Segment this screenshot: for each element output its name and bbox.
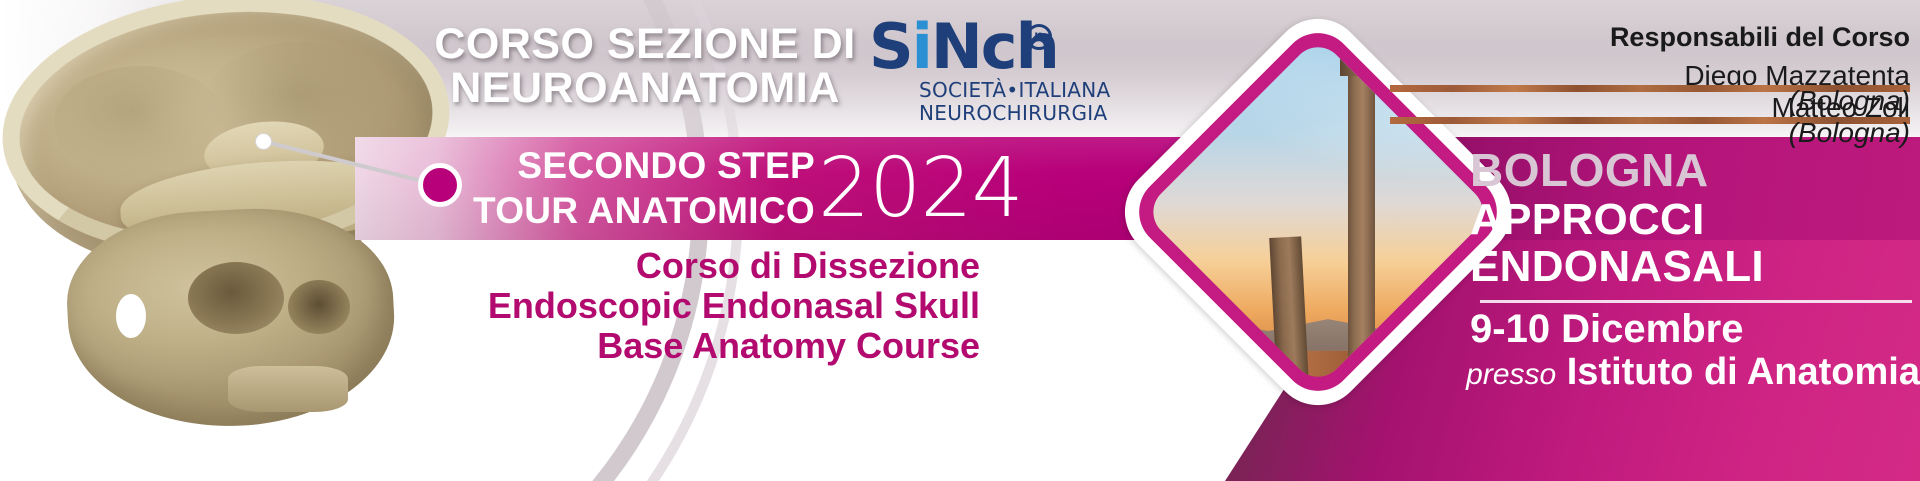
registered-mark-icon: n [1026, 24, 1052, 50]
skull-maxilla [228, 366, 348, 412]
sinch-logo: SiNch n SOCIETÀ•ITALIANA NEUROCHIRURGIA [869, 16, 1069, 126]
title-line-2: NEUROANATOMIA [430, 66, 860, 110]
skull-notch [116, 294, 146, 338]
city-label: BOLOGNA [1470, 146, 1920, 194]
course-line-2: Endoscopic Endonasal Skull [420, 286, 980, 326]
sinch-subtitle-line-2: NEUROCHIRURGIA [919, 101, 1108, 125]
event-venue: presso Istituto di Anatomia [1400, 352, 1920, 395]
step-line-2: TOUR ANATOMICO [470, 188, 815, 233]
event-date: 9-10 Dicembre [1470, 308, 1920, 350]
course-title: Corso di Dissezione Endoscopic Endonasal… [420, 246, 980, 366]
title-line-1: CORSO SEZIONE DI [434, 20, 855, 68]
panel-divider-line [1480, 300, 1912, 303]
responsabile-1: Diego Mazzatenta (Bologna) [1390, 60, 1910, 92]
sinch-wordmark: SiNch [869, 16, 1058, 78]
pointer-dot [256, 134, 271, 149]
conference-banner: CORSO SEZIONE DI NEUROANATOMIA SiNch n S… [0, 0, 1920, 481]
band-circle-marker [418, 163, 462, 207]
venue-name: Istituto di Anatomia [1567, 351, 1920, 393]
venue-prefix: presso [1466, 358, 1556, 391]
skull-orbit-secondary [288, 280, 350, 334]
responsabile-2-city: (Bologna) [1390, 117, 1910, 124]
asinelli-tower [1348, 73, 1375, 381]
skull-orbit [188, 262, 284, 334]
event-year: 2024 [818, 141, 1023, 237]
approach-line-2: ENDONASALI [1470, 243, 1920, 290]
page-title: CORSO SEZIONE DI NEUROANATOMIA [430, 22, 860, 110]
step-line-1: SECONDO STEP [470, 143, 815, 188]
responsabile-1-city: (Bologna) [1390, 85, 1910, 92]
responsabili-heading: Responsabili del Corso [1490, 22, 1910, 53]
responsabile-2: Matteo Zoli (Bologna) [1390, 92, 1910, 124]
approach-line-1: APPROCCI [1470, 196, 1920, 243]
sinch-letter-s: S [869, 10, 912, 83]
sinch-letter-i: i [912, 10, 931, 83]
step-band-text: SECONDO STEP TOUR ANATOMICO [470, 143, 815, 233]
course-line-3: Base Anatomy Course [420, 326, 980, 366]
sinch-subtitle-line-1: SOCIETÀ•ITALIANA [919, 78, 1111, 102]
course-line-1: Corso di Dissezione [420, 246, 980, 286]
approach-label: APPROCCI ENDONASALI [1470, 196, 1920, 290]
